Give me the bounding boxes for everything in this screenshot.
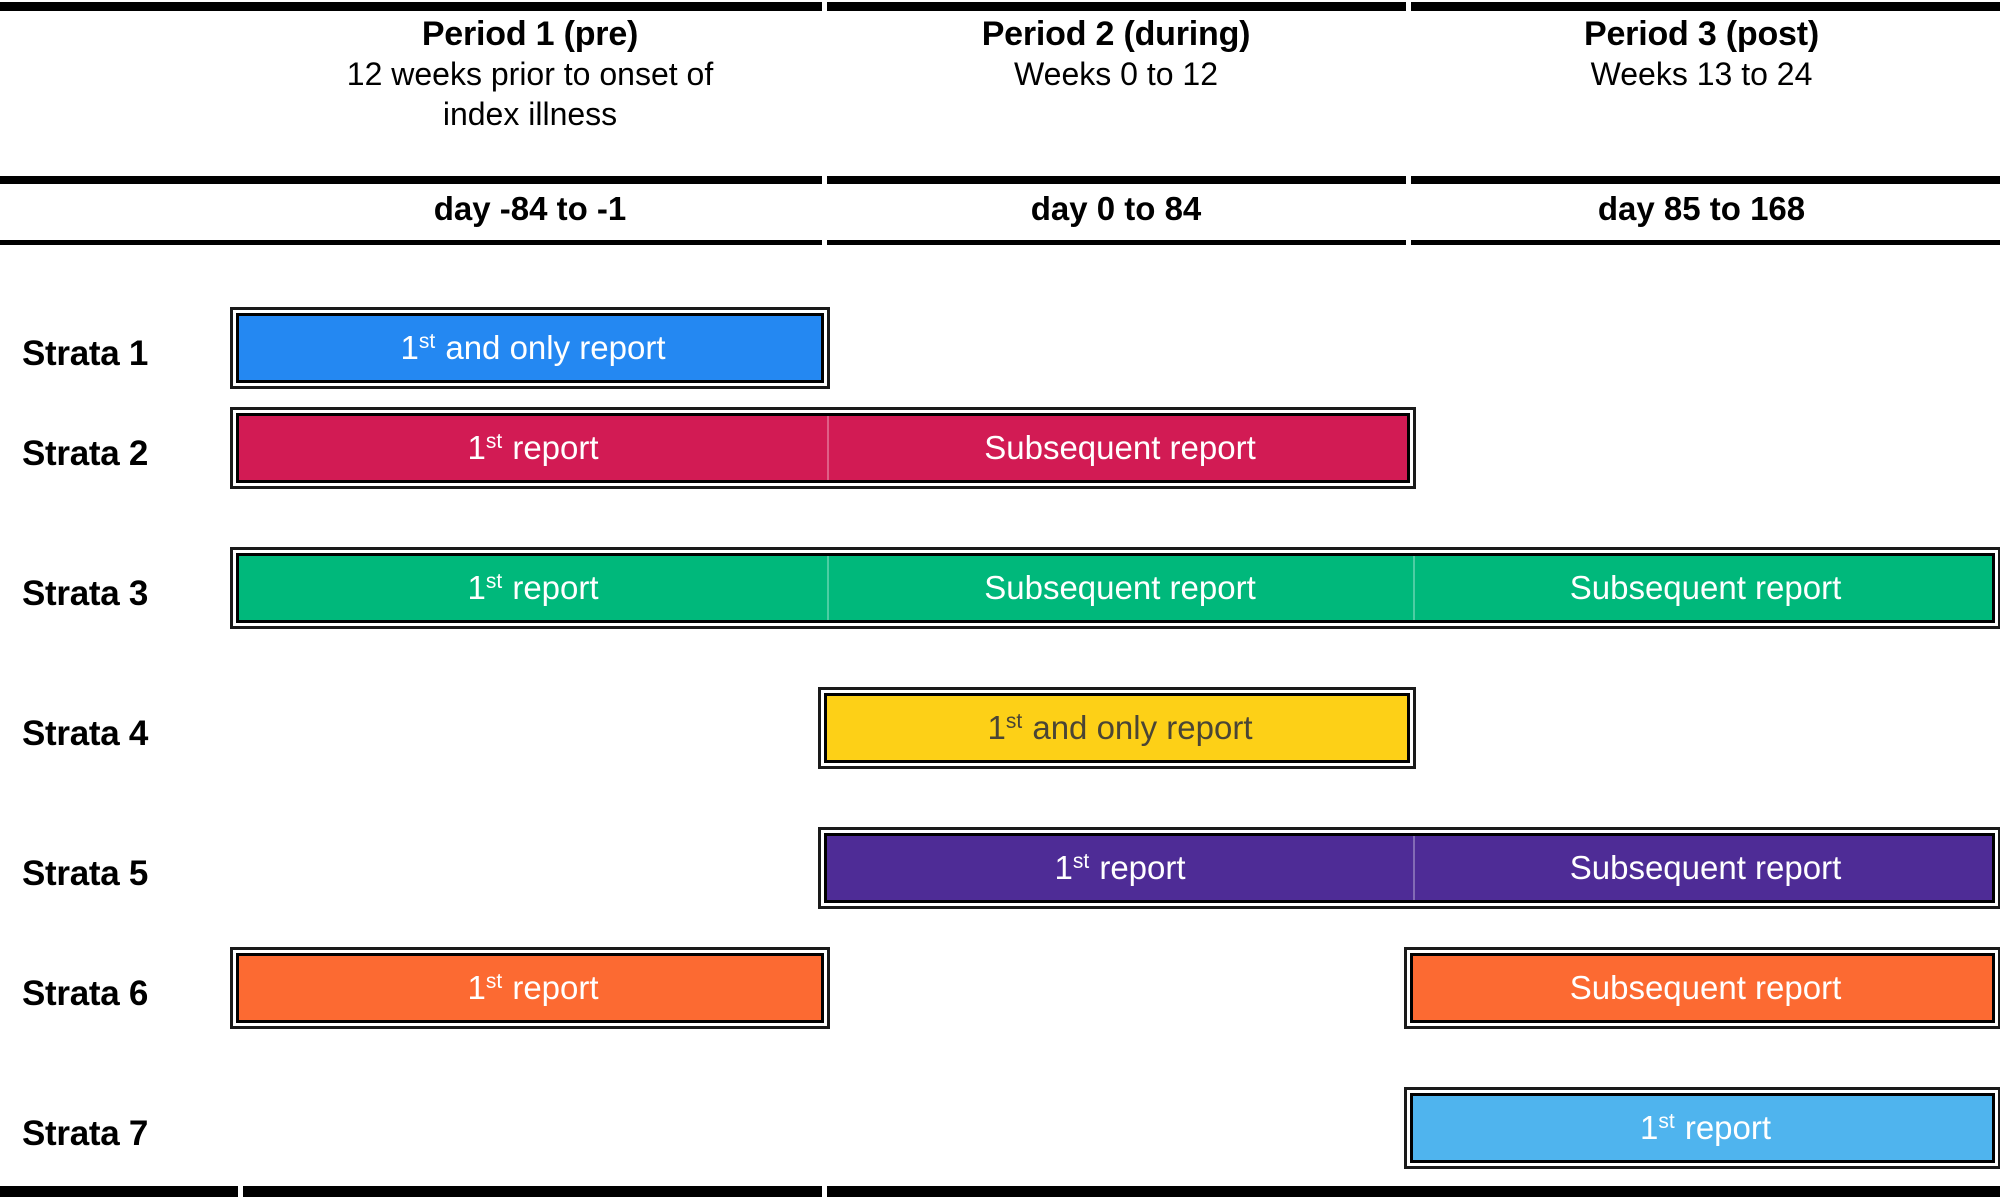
rule-gap-p2-p3-days	[1406, 240, 1411, 245]
strata-bar: 1st report	[236, 953, 824, 1023]
segment-label: 1st report	[467, 429, 598, 467]
header-title-period3: Period 3 (post)	[1408, 14, 1995, 55]
strata-bar: 1st and only report	[824, 693, 1410, 763]
strata-bar: 1st reportSubsequent report	[236, 413, 1410, 483]
strata-bar-segment: Subsequent report	[827, 556, 1413, 620]
header-title-period2: Period 2 (during)	[824, 14, 1408, 55]
ordinal-suffix: st	[1073, 850, 1090, 873]
strata-bar-segment: 1st report	[827, 836, 1413, 900]
ordinal-number: 1	[467, 569, 485, 606]
strata-bar: 1st report	[1410, 1093, 1995, 1163]
table-bottom-rule	[0, 1186, 2000, 1197]
table-header-rule	[0, 176, 2000, 184]
segment-label: 1st report	[467, 569, 598, 607]
rule-gap-p2-p3-top	[1406, 2, 1411, 11]
strata-bar-segment: 1st report	[1413, 1096, 1998, 1160]
strata-bar-segment: 1st report	[239, 956, 827, 1020]
strata-bar-segment: 1st report	[239, 416, 827, 480]
ordinal-number: 1	[467, 429, 485, 466]
strata-bar-segment: Subsequent report	[1413, 556, 1998, 620]
ordinal-suffix: st	[486, 430, 503, 453]
ordinal-number: 1	[987, 709, 1005, 746]
ordinal-suffix: st	[1658, 1110, 1675, 1133]
rule-gap-p1-p2-days	[822, 240, 827, 245]
strata-row-label: Strata 6	[22, 974, 222, 1014]
strata-bar-segment: Subsequent report	[1413, 956, 1998, 1020]
strata-timeline-figure: Period 1 (pre) 12 weeks prior to onset o…	[0, 0, 2000, 1199]
segment-label-text: report	[503, 969, 598, 1006]
strata-row-label: Strata 5	[22, 854, 222, 894]
rule-gap-p1-p2-bottom	[238, 1186, 243, 1197]
segment-label: Subsequent report	[1570, 969, 1842, 1007]
segment-label-text: report	[1676, 1109, 1771, 1146]
header-sub-period1-line1: 12 weeks prior to onset of	[236, 55, 824, 94]
strata-row-label: Strata 2	[22, 434, 222, 474]
strata-row-label: Strata 7	[22, 1114, 222, 1154]
header-sub-period1-line2: index illness	[236, 95, 824, 134]
rule-gap-p2-p3-mid	[1406, 176, 1411, 184]
segment-label: 1st and only report	[987, 709, 1252, 747]
segment-label: Subsequent report	[1570, 849, 1842, 887]
ordinal-suffix: st	[486, 570, 503, 593]
strata-row-label: Strata 1	[22, 334, 222, 374]
rule-gap-p2-p3-bottom	[822, 1186, 827, 1197]
strata-bar-segment: 1st and only report	[827, 696, 1413, 760]
strata-bar-segment: Subsequent report	[1413, 836, 1998, 900]
table-top-rule	[0, 2, 2000, 11]
segment-label-text: report	[503, 569, 598, 606]
day-range-period1: day -84 to -1	[236, 190, 824, 228]
strata-row-label: Strata 4	[22, 714, 222, 754]
header-title-period1: Period 1 (pre)	[236, 14, 824, 55]
rule-gap-p1-p2-mid	[822, 176, 827, 184]
ordinal-number: 1	[1640, 1109, 1658, 1146]
strata-bar-segment: 1st and only report	[239, 316, 827, 380]
ordinal-number: 1	[467, 969, 485, 1006]
segment-label: 1st report	[1640, 1109, 1771, 1147]
header-cell-period2: Period 2 (during) Weeks 0 to 12	[824, 14, 1408, 95]
strata-bar: 1st reportSubsequent reportSubsequent re…	[236, 553, 1995, 623]
ordinal-number: 1	[400, 329, 418, 366]
segment-label: 1st report	[1054, 849, 1185, 887]
segment-label-text: report	[1090, 849, 1185, 886]
segment-label: Subsequent report	[984, 429, 1256, 467]
segment-label: Subsequent report	[984, 569, 1256, 607]
header-sub-period2-line1: Weeks 0 to 12	[824, 55, 1408, 94]
strata-bar: Subsequent report	[1410, 953, 1995, 1023]
ordinal-suffix: st	[1006, 710, 1023, 733]
segment-label-text: and only report	[436, 329, 665, 366]
strata-bar: 1st reportSubsequent report	[824, 833, 1995, 903]
header-cell-period1: Period 1 (pre) 12 weeks prior to onset o…	[236, 14, 824, 134]
strata-bar-segment: Subsequent report	[827, 416, 1413, 480]
ordinal-suffix: st	[419, 330, 436, 353]
segment-label-text: and only report	[1023, 709, 1252, 746]
strata-row-label: Strata 3	[22, 574, 222, 614]
day-range-period2: day 0 to 84	[824, 190, 1408, 228]
segment-label: 1st and only report	[400, 329, 665, 367]
ordinal-number: 1	[1054, 849, 1072, 886]
header-cell-period3: Period 3 (post) Weeks 13 to 24	[1408, 14, 1995, 95]
segment-label: 1st report	[467, 969, 598, 1007]
strata-bar: 1st and only report	[236, 313, 824, 383]
segment-label: Subsequent report	[1570, 569, 1842, 607]
table-days-rule	[0, 240, 2000, 245]
day-range-period3: day 85 to 168	[1408, 190, 1995, 228]
header-sub-period3-line1: Weeks 13 to 24	[1408, 55, 1995, 94]
rule-gap-p1-p2-top	[822, 2, 827, 11]
strata-bar-segment: 1st report	[239, 556, 827, 620]
ordinal-suffix: st	[486, 970, 503, 993]
segment-label-text: report	[503, 429, 598, 466]
